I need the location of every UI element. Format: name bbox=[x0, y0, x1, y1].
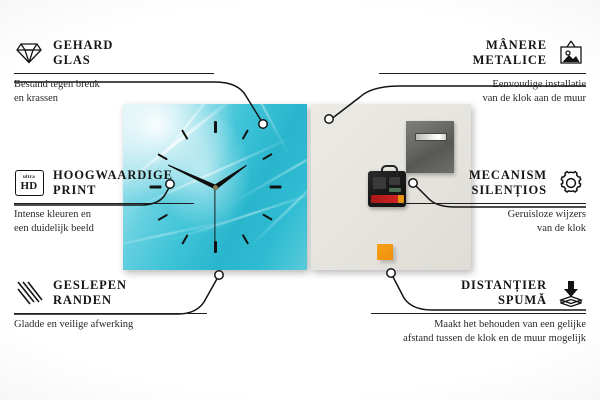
product-infographic: GEHARD GLAS Bestand tegen breuk en krass… bbox=[0, 0, 600, 400]
clock-tick bbox=[214, 121, 217, 133]
diagonal-lines-icon bbox=[14, 278, 44, 308]
feature-title: GESLEPEN RANDEN bbox=[53, 278, 127, 309]
feature-title: GEHARD GLAS bbox=[53, 38, 113, 69]
clock-tick bbox=[269, 186, 281, 189]
divider bbox=[14, 203, 194, 204]
divider bbox=[14, 313, 207, 314]
feature-geslepen-randen: GESLEPEN RANDEN Gladde en veilige afwerk… bbox=[14, 278, 229, 332]
clock-tick bbox=[262, 153, 273, 160]
feature-title: MÂNERE METALICE bbox=[473, 38, 547, 69]
metal-hanger-plate-icon bbox=[406, 121, 454, 173]
feature-description: Bestand tegen breuk en krassen bbox=[14, 78, 229, 106]
clock-tick bbox=[157, 153, 168, 160]
clock-tick bbox=[262, 214, 273, 221]
feature-title: MECANISM SILENȚIOS bbox=[469, 168, 547, 199]
feature-description: Maakt het behouden van een gelijke afsta… bbox=[371, 318, 586, 346]
ultra-hd-icon-bottom-text: HD bbox=[20, 181, 37, 192]
ultra-hd-icon-top-text: ultra bbox=[23, 175, 35, 180]
arrow-down-pad-icon bbox=[556, 278, 586, 308]
wall-frame-icon bbox=[556, 38, 586, 68]
feature-distantier-spuma: DISTANȚIER SPUMĂ Maakt het behouden van … bbox=[371, 278, 586, 346]
clock-tick bbox=[181, 129, 188, 140]
clock-tick bbox=[242, 129, 249, 140]
feature-description: Gladde en veilige afwerking bbox=[14, 318, 229, 332]
divider bbox=[401, 203, 586, 204]
feature-hd-print: ultra HD HOOGWAARDIGE PRINT Intense kleu… bbox=[14, 168, 229, 236]
feature-mecanism-silentios: MECANISM SILENȚIOS Geruisloze wijzers va… bbox=[371, 168, 586, 236]
foam-spacer bbox=[377, 244, 393, 260]
clock-tick bbox=[181, 234, 188, 245]
clock-tick bbox=[242, 234, 249, 245]
divider bbox=[14, 73, 214, 74]
feature-description: Eenvoudige installatie van de klok aan d… bbox=[371, 78, 586, 106]
feature-description: Geruisloze wijzers van de klok bbox=[371, 208, 586, 236]
feature-manere-metalice: MÂNERE METALICE Eenvoudige installatie v… bbox=[371, 38, 586, 106]
feature-gehard-glas: GEHARD GLAS Bestand tegen breuk en krass… bbox=[14, 38, 229, 106]
feature-title: DISTANȚIER SPUMĂ bbox=[461, 278, 547, 309]
divider bbox=[371, 313, 586, 314]
hanger-slot bbox=[415, 133, 447, 141]
feature-title: HOOGWAARDIGE PRINT bbox=[53, 168, 173, 199]
ultra-hd-icon: ultra HD bbox=[14, 168, 44, 198]
gear-icon bbox=[556, 168, 586, 198]
diamond-icon bbox=[14, 38, 44, 68]
divider bbox=[379, 73, 586, 74]
feature-description: Intense kleuren en een duidelijk beeld bbox=[14, 208, 229, 236]
